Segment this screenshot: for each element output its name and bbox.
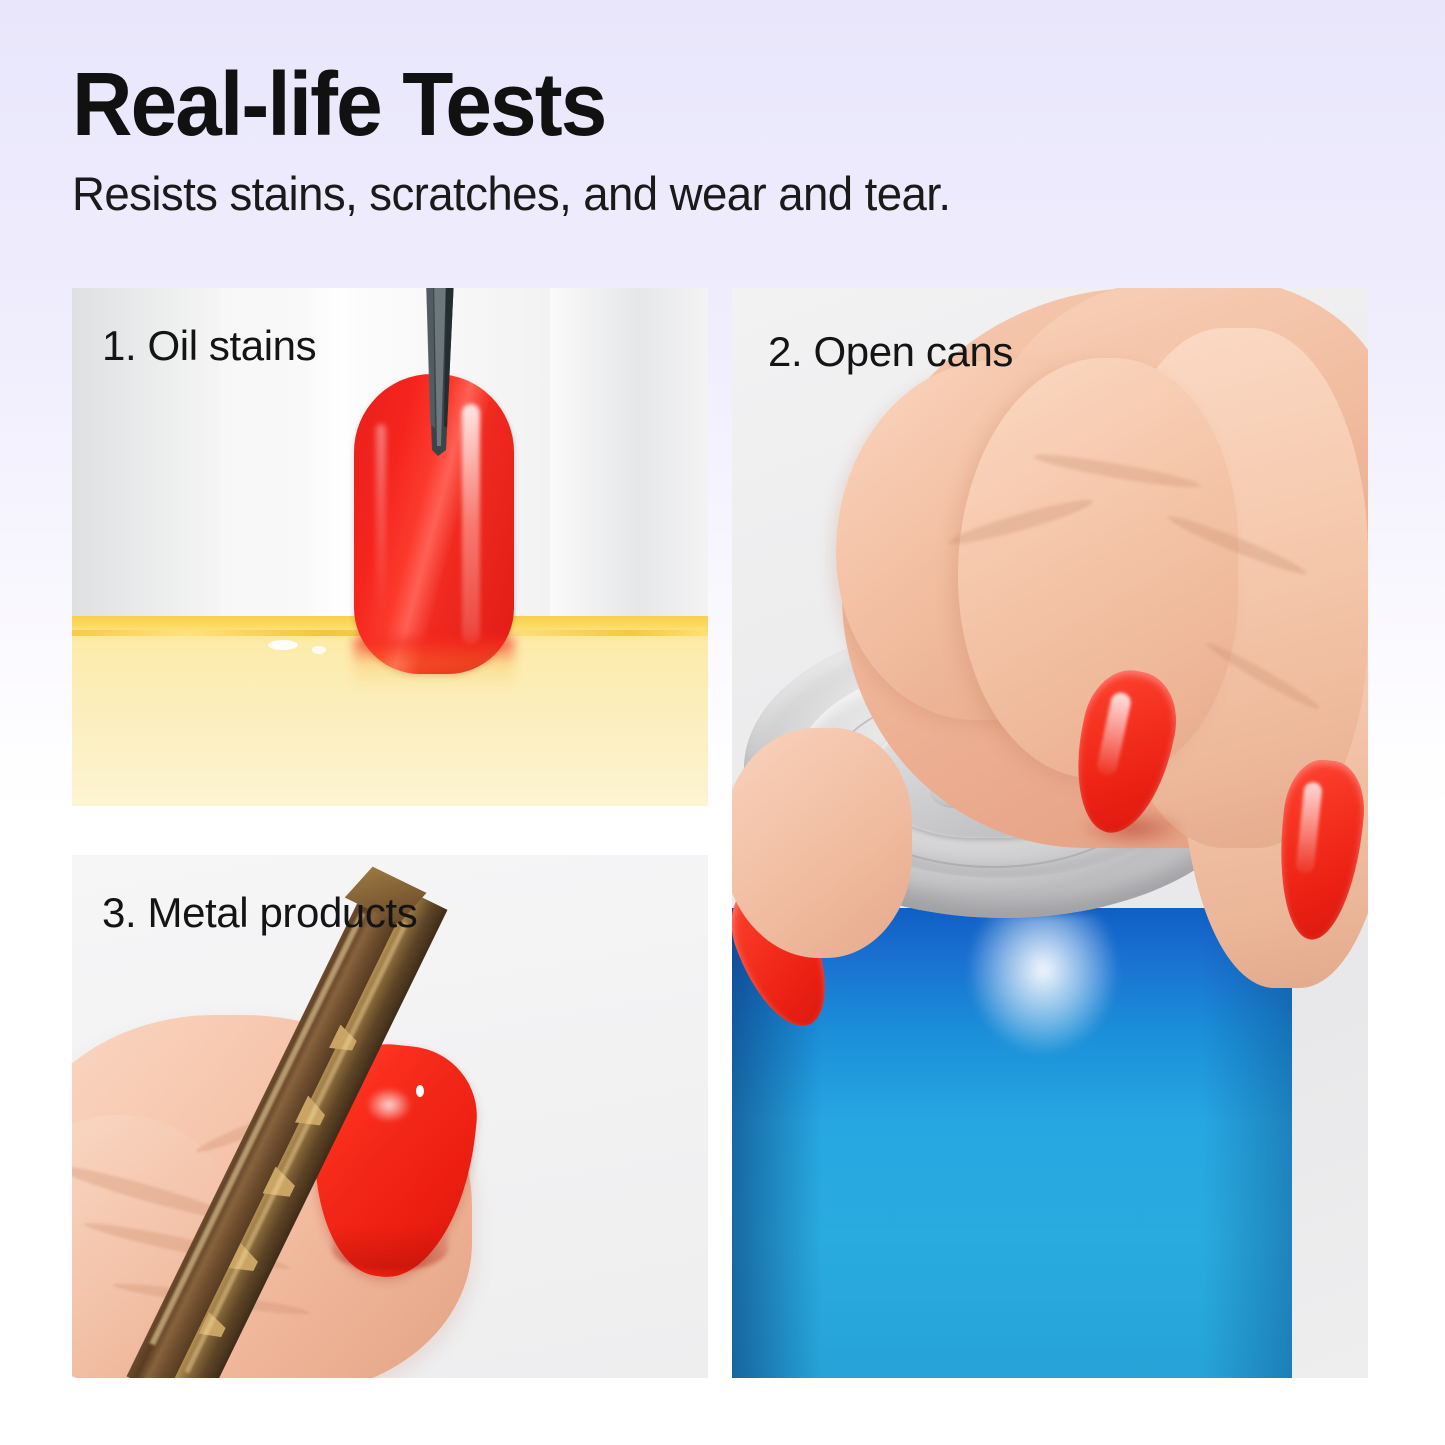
nail-gloss-secondary [376,424,386,614]
infographic-page: Real-life Tests Resists stains, scratche… [0,0,1445,1445]
nail-specular-dot [416,1085,424,1097]
oil-bubble [268,640,298,650]
page-title: Real-life Tests [72,60,1281,150]
test-panel-open-cans: 2. Open cans [732,288,1368,1378]
nail-lower-shade [332,1227,448,1271]
panel-label-metal-products: 3. Metal products [102,889,417,937]
thumb [732,728,912,958]
test-panel-oil-stains: 1. Oil stains [72,288,708,806]
test-panel-metal-products: 3. Metal products [72,855,708,1378]
header: Real-life Tests Resists stains, scratche… [72,60,1372,220]
tweezers-icon [424,288,458,458]
nail-gloss-highlight [366,1087,412,1123]
panel-label-open-cans: 2. Open cans [768,328,1013,376]
page-subtitle: Resists stains, scratches, and wear and … [72,168,1333,220]
nail-gloss-highlight [462,404,480,644]
panel-label-oil-stains: 1. Oil stains [102,322,316,370]
nail-waterline-blur [354,638,514,690]
can-specular-highlight [968,914,1118,1054]
oil-bubble [312,646,326,654]
